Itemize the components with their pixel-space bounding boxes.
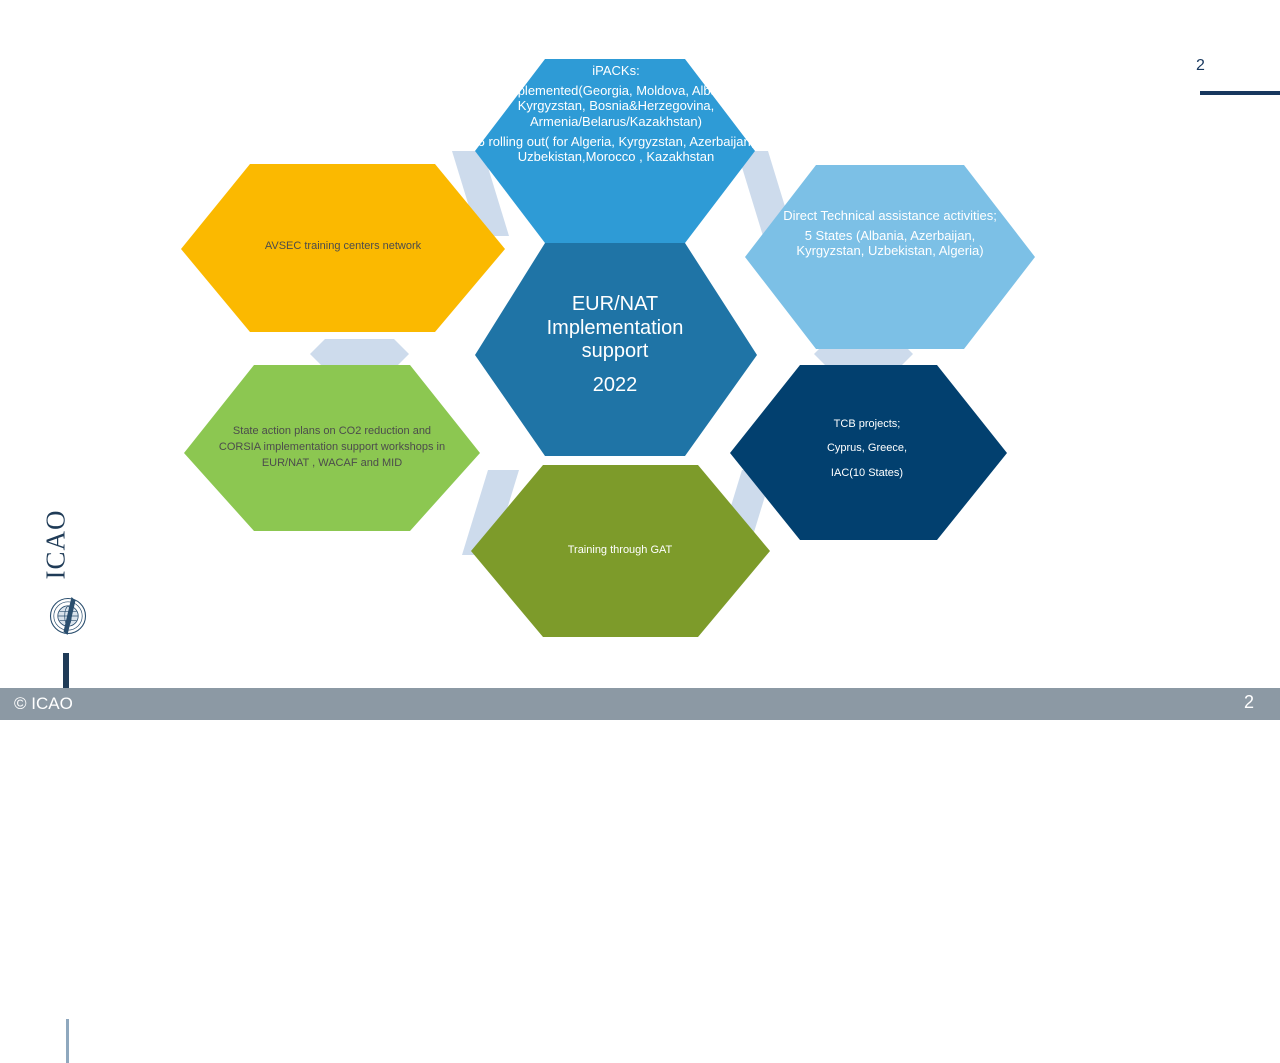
slide-canvas: iPACKs: 6 implemented(Georgia, Moldova, … [0,0,1280,720]
hexagon-diagram: iPACKs: 6 implemented(Georgia, Moldova, … [0,0,1280,688]
direct-technical-assistance-hexagon-shape[interactable] [745,165,1035,349]
icao-wordmark: ICAO [41,507,72,583]
footer-copyright: © ICAO [14,694,73,714]
tcb-projects-hexagon-shape[interactable] [730,365,1007,540]
ipacks-hexagon-shape[interactable] [475,59,755,243]
connector-state-plans-to-avsec [310,339,409,369]
state-action-plans-hexagon-shape[interactable] [184,365,480,531]
center-hexagon-shape[interactable] [475,243,757,456]
icao-logo: ICAO [36,505,100,680]
training-through-gat-hexagon-shape[interactable] [471,465,770,637]
icao-wordmark-rule [66,1019,69,1063]
page-number-header: 2 [1196,58,1280,98]
footer-bar [0,688,1280,720]
page-number-rule [1200,91,1280,95]
icao-globe-emblem [45,593,91,639]
page-number-top: 2 [1196,58,1280,74]
avsec-training-centers-hexagon-shape[interactable] [181,164,505,332]
footer-page-number: 2 [1244,692,1254,713]
